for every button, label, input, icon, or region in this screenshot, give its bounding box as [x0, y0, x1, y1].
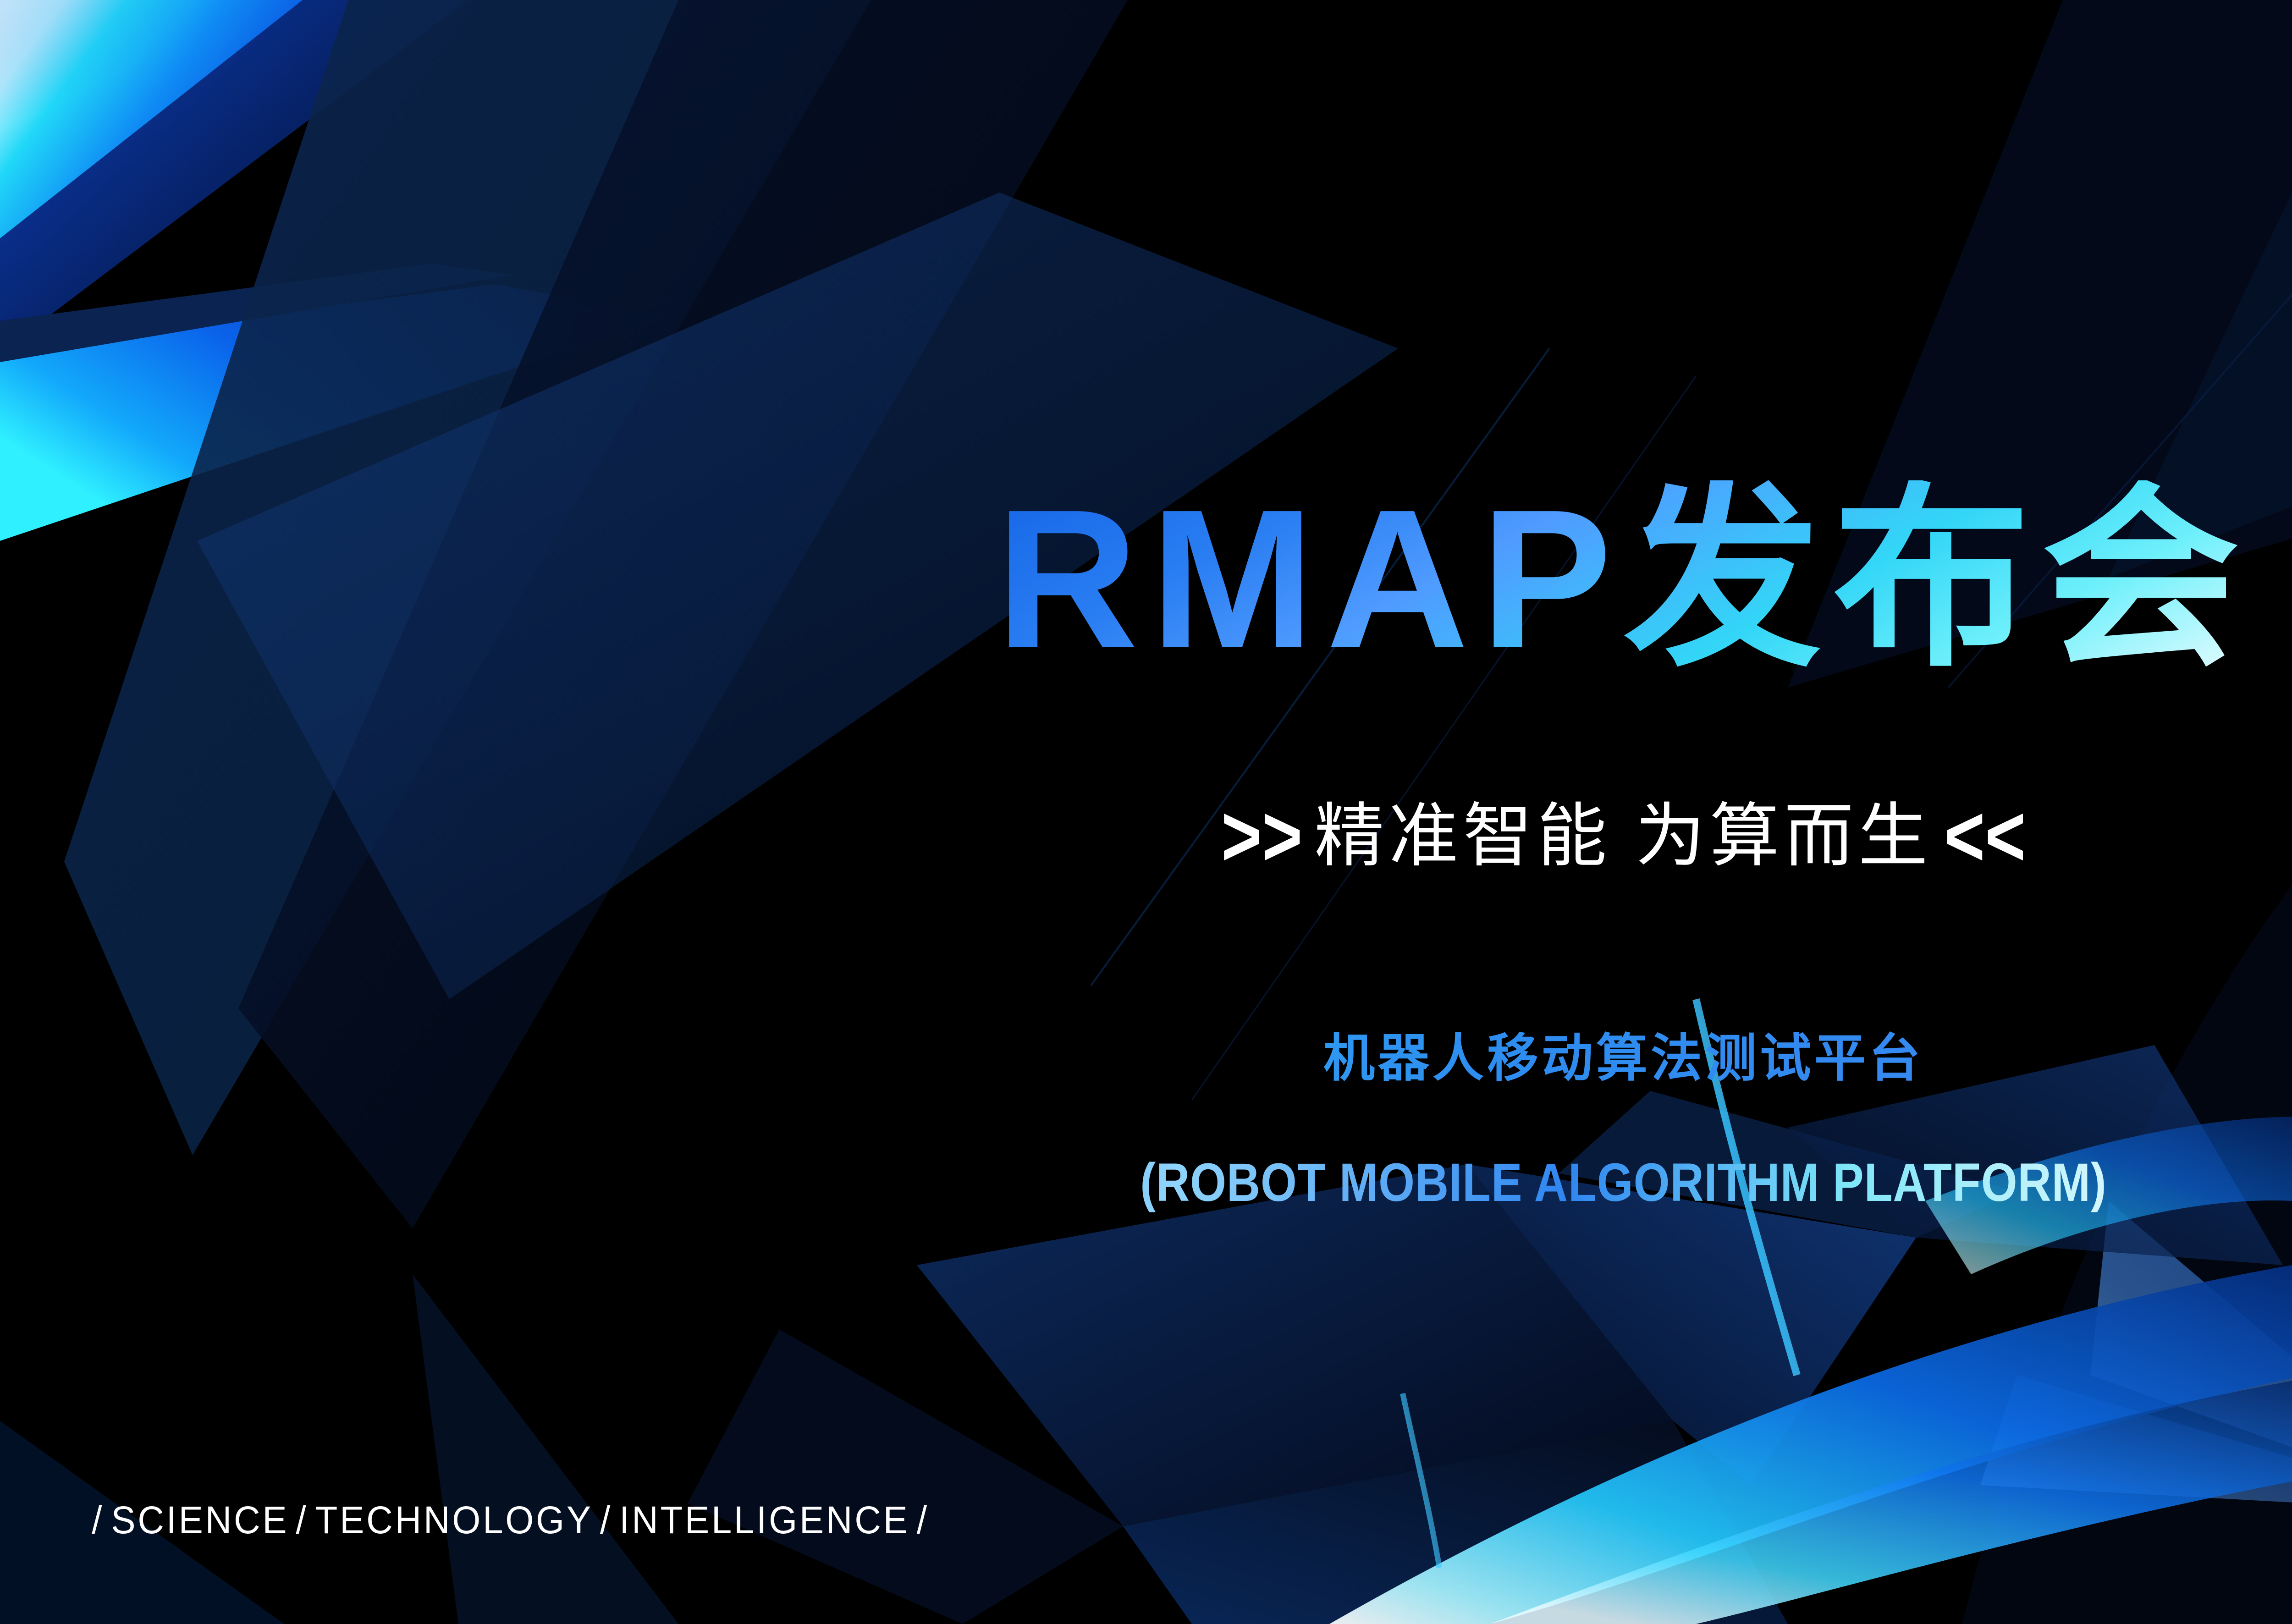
subtitle-text: 精准智能 为算而生	[1314, 797, 1932, 875]
description-chinese: 机器人移动算法测试平台	[0, 1017, 2292, 1091]
chevron-right-icon: >>	[1209, 786, 1315, 886]
title-container: RMAP发布会	[0, 348, 2292, 828]
tagline-separator-3: /	[593, 1498, 619, 1542]
page-title: RMAP发布会	[982, 480, 2264, 696]
tagline-word-science: SCIENCE	[111, 1498, 289, 1541]
tagline-separator-2: /	[289, 1498, 315, 1542]
tagline-separator-1: /	[85, 1498, 111, 1542]
tagline-separator-4: /	[910, 1498, 936, 1542]
tagline-word-intelligence: INTELLIGENCE	[619, 1498, 909, 1541]
description-english: (ROBOT MOBILE ALGORITHM PLATFORM)	[227, 1151, 2292, 1214]
poster-canvas: 上海机器人产业技术研究院 SHANGHAI ROBOT INDUSTRIAL T…	[0, 0, 2292, 1624]
footer-tagline: /SCIENCE/TECHNOLOGY/INTELLIGENCE/	[85, 1498, 936, 1542]
tagline-word-technology: TECHNOLOGY	[315, 1498, 593, 1541]
chevron-left-icon: <<	[1933, 786, 2038, 886]
subtitle-line: >>精准智能 为算而生<<	[0, 779, 2292, 880]
